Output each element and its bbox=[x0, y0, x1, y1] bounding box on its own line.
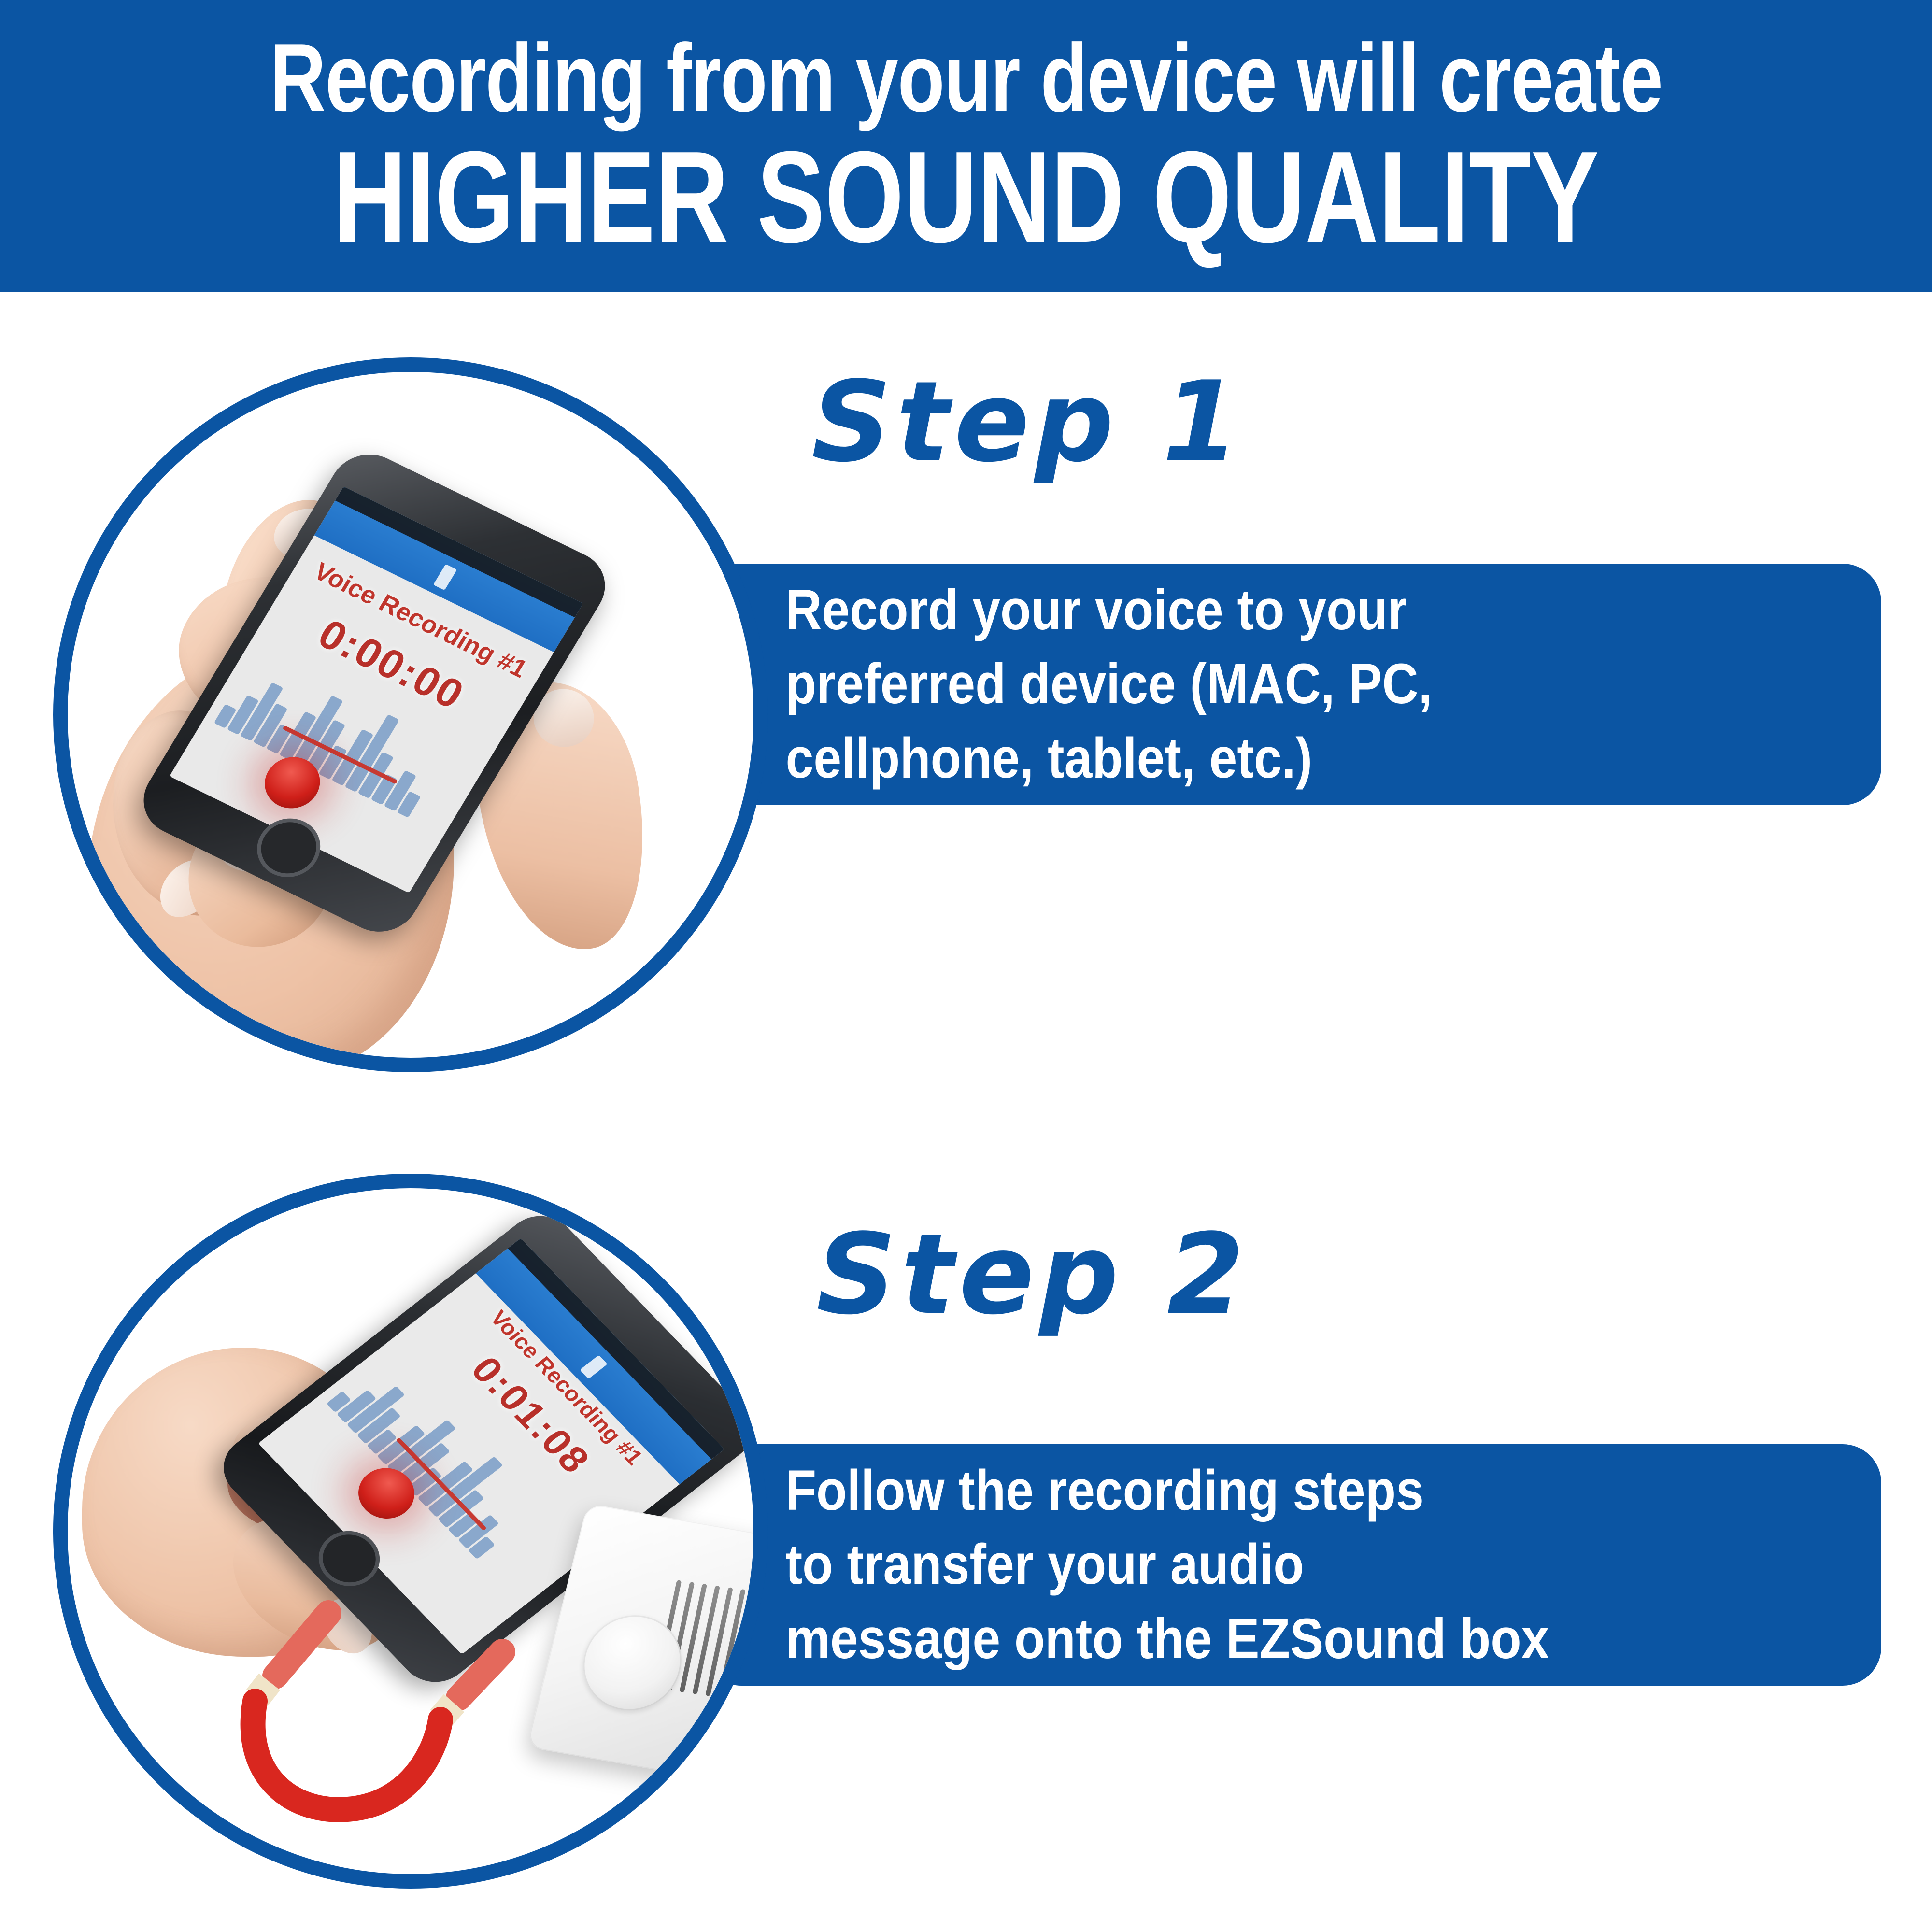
phone-connected-to-soundbox-illustration: Voice Recording #1 0:01:08 bbox=[68, 1188, 753, 1874]
step-2-callout-text: Follow the recording steps to transfer y… bbox=[703, 1454, 1549, 1676]
microphone-icon bbox=[580, 1355, 608, 1379]
step-1-photo: Voice Recording #1 0:00:00 bbox=[68, 372, 753, 1058]
microphone-icon bbox=[433, 564, 457, 590]
hand-holding-phone-illustration: Voice Recording #1 0:00:00 bbox=[68, 372, 753, 1058]
step-2-photo: Voice Recording #1 0:01:08 bbox=[68, 1188, 753, 1874]
header-line-1: Recording from your device will create bbox=[270, 30, 1662, 127]
step-2-label: Step 2 bbox=[816, 1220, 1249, 1331]
status-led-icon bbox=[710, 1714, 733, 1736]
step-2-photo-circle: Voice Recording #1 0:01:08 bbox=[53, 1174, 768, 1889]
app-navbar bbox=[476, 1238, 724, 1485]
step-2-callout-box: Follow the recording steps to transfer y… bbox=[703, 1444, 1881, 1686]
header-line-2: HIGHER SOUND QUALITY bbox=[333, 132, 1599, 263]
step-row-1: Record your voice to your preferred devi… bbox=[0, 292, 1932, 1113]
step-1-label: Step 1 bbox=[811, 367, 1244, 478]
step-row-2: Follow the recording steps to transfer y… bbox=[0, 1111, 1932, 1932]
step-1-photo-circle: Voice Recording #1 0:00:00 bbox=[53, 357, 768, 1072]
header-banner: Recording from your device will create H… bbox=[0, 0, 1932, 292]
step-1-callout-box: Record your voice to your preferred devi… bbox=[703, 564, 1881, 805]
step-1-callout-text: Record your voice to your preferred devi… bbox=[703, 573, 1432, 796]
